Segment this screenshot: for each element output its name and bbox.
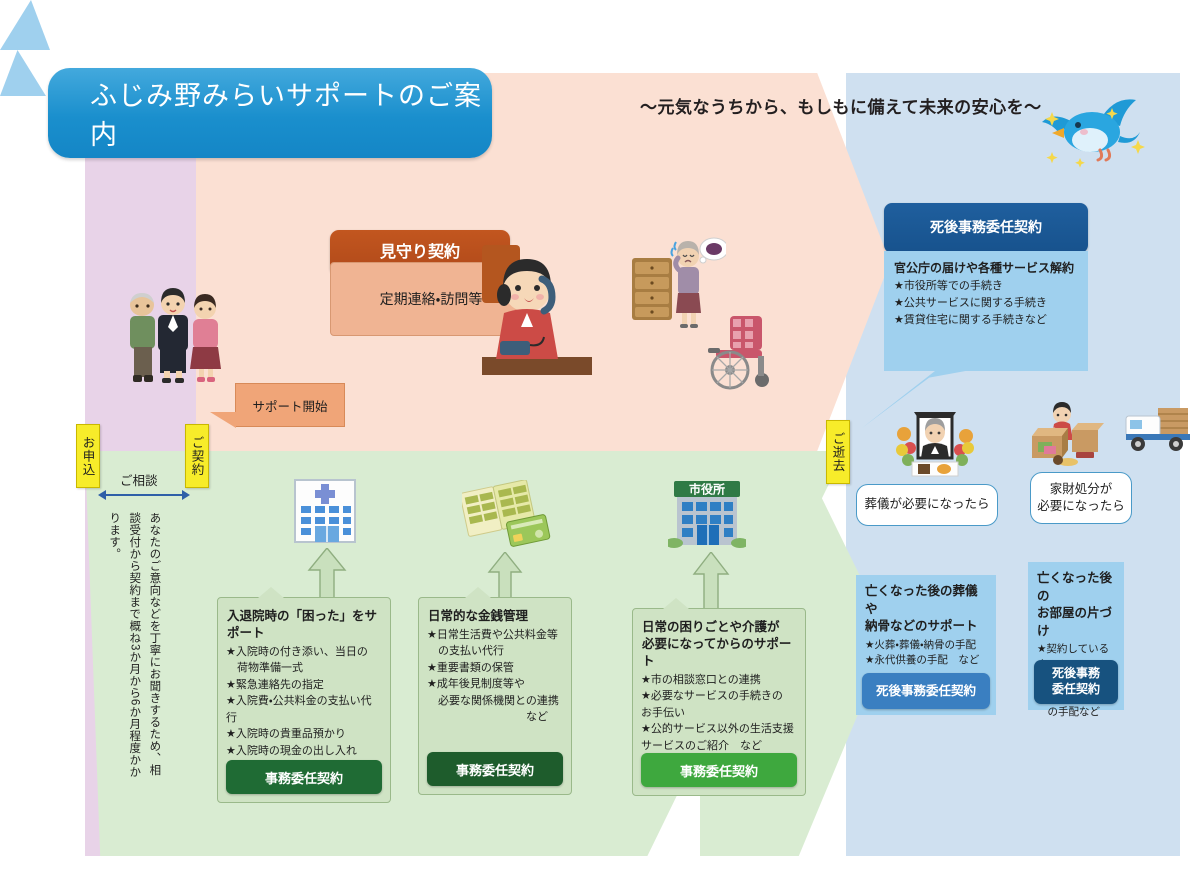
card-contract-badge: 死後事務 委任契約 [1034, 660, 1118, 704]
after-death-card-room-cleanup: 亡くなった後の お部屋の片づけ ★契約している内 容での家財処分 の手配など 死… [1028, 562, 1124, 710]
card-body: ★市の相談窓口との連携 ★必要なサービスの手続きの お手伝い ★公的サービス以外… [633, 672, 805, 755]
tag-application: お申込 [76, 424, 100, 488]
card-notch [258, 587, 284, 598]
card-contract-badge: 死後事務委任契約 [862, 673, 990, 709]
bankbook-icon [462, 480, 554, 550]
operator-phone-icon [482, 245, 592, 375]
funeral-portrait-icon [894, 404, 976, 482]
family-three-people-icon [118, 283, 226, 387]
card-title: 日常的な金銭管理 [419, 598, 571, 627]
wheelchair-icon [700, 312, 782, 390]
diagram-canvas: ふじみ野みらいサポートのご案内 〜元気なうちから、もしもに備えて未来の安心を〜 [0, 0, 1200, 878]
service-card-money: 日常的な金銭管理 ★日常生活費や公共料金等 の支払い代行 ★重要書類の保管 ★成… [418, 597, 572, 795]
arrow-hospital-to-card [305, 548, 349, 598]
label-goods-disposal-needed: 家財処分が 必要になったら [1030, 472, 1132, 524]
card-title: 日常の困りごとや介護が 必要になってからのサポート [633, 609, 805, 672]
application-duration-note: あなたのご意向などを丁寧にお聞きするため、相談受付から契約まで概ね3か月から6か… [104, 512, 164, 780]
cityhall-icon: 市役所 [668, 475, 746, 551]
cityhall-sign-text: 市役所 [689, 482, 725, 497]
card-notch [663, 598, 689, 609]
after-death-card-funeral: 亡くなった後の葬儀や 納骨などのサポート ★火葬・葬儀・納骨の手配 ★永代供養の… [856, 575, 996, 715]
service-card-daily-care: 日常の困りごとや介護が 必要になってからのサポート ★市の相談窓口との連携 ★必… [632, 608, 806, 796]
card-contract-badge: 事務委任契約 [427, 752, 563, 786]
hospital-icon [291, 474, 359, 546]
service-card-hospital: 入退院時の「困った」をサポート ★入院時の付き添い、当日の 荷物準備一式 ★緊急… [217, 597, 391, 803]
goods-card-tail [0, 50, 46, 96]
callout-title: 官公庁の届けや各種サービス解約 [894, 261, 1074, 275]
card-notch [465, 587, 491, 598]
packing-boxes-icon [1028, 400, 1112, 468]
card-title: 亡くなった後の葬儀や 納骨などのサポート [856, 575, 996, 638]
funeral-card-tail [0, 0, 50, 50]
page-title-pill: ふじみ野みらいサポートのご案内 [48, 68, 492, 158]
moving-truck-icon [1122, 398, 1194, 458]
tag-contract: ご契約 [185, 424, 209, 488]
page-title: ふじみ野みらいサポートのご案内 [48, 74, 492, 152]
card-title: 亡くなった後の お部屋の片づけ [1028, 562, 1124, 642]
tag-death: ご逝去 [826, 420, 850, 484]
callout-body: ★市役所等での手続き ★公共サービスに関する手続き ★賃貸住宅に関する手続きなど [894, 280, 1047, 326]
card-body: ★日常生活費や公共料金等 の支払い代行 ★重要書類の保管 ★成年後見制度等や 必… [419, 627, 571, 726]
label-funeral-needed: 葬儀が必要になったら [856, 484, 998, 526]
consult-double-arrow [98, 490, 190, 500]
after-death-contract-header: 死後事務委任契約 [884, 203, 1088, 253]
bluebird-icon [1028, 92, 1158, 168]
card-body: ★入院時の付き添い、当日の 荷物準備一式 ★緊急連絡先の指定 ★入院費・公共料金… [218, 644, 390, 776]
arrow-cityhall-to-card [690, 552, 732, 610]
card-body: ★火葬・葬儀・納骨の手配 ★永代供養の手配 など [856, 638, 996, 670]
card-title: 入退院時の「困った」をサポート [218, 598, 390, 644]
page-subtitle: 〜元気なうちから、もしもに備えて未来の安心を〜 [640, 93, 1042, 118]
card-contract-badge: 事務委任契約 [641, 753, 797, 787]
arrow-money-to-card [485, 552, 525, 600]
support-start-callout: サポート開始 [235, 383, 345, 427]
card-contract-badge: 事務委任契約 [226, 760, 382, 794]
after-death-callout: 官公庁の届けや各種サービス解約★市役所等での手続き ★公共サービスに関する手続き… [884, 251, 1088, 371]
callout-content: 官公庁の届けや各種サービス解約★市役所等での手続き ★公共サービスに関する手続き… [884, 251, 1088, 329]
consult-label: ご相談 [120, 470, 158, 489]
